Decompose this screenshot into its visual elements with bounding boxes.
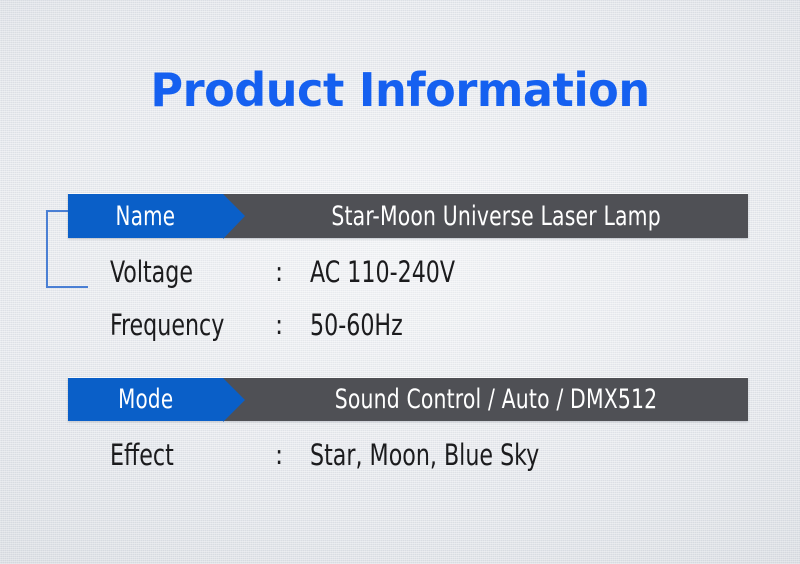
detail-separator-effect: : [275,440,310,471]
spec-bar-name: Name Star-Moon Universe Laser Lamp [68,193,748,238]
spec-value-panel-mode: Sound Control / Auto / DMX512 [223,378,748,421]
detail-value-frequency: 50-60Hz [310,308,667,342]
spec-value-label-name: Star-Moon Universe Laser Lamp [332,201,661,232]
detail-value-voltage: AC 110-240V [310,255,667,289]
spec-key-label-name: Name [116,201,176,232]
detail-row-effect: Effect : Star, Moon, Blue Sky [110,435,730,475]
bracket-left-segment [46,210,48,288]
spec-key-chevron-name: Name [68,194,223,238]
detail-label-voltage: Voltage [110,255,250,289]
spec-value-panel-name: Star-Moon Universe Laser Lamp [223,194,748,238]
spec-bar-mode: Mode Sound Control / Auto / DMX512 [68,377,748,421]
product-information-infographic: Product Information Name Star-Moon Unive… [0,0,800,564]
detail-value-effect: Star, Moon, Blue Sky [310,438,667,472]
detail-row-voltage: Voltage : AC 110-240V [110,252,730,292]
page-title: Product Information [12,63,788,117]
detail-separator-frequency: : [275,310,310,341]
spec-key-chevron-mode: Mode [68,378,223,421]
spec-value-label-mode: Sound Control / Auto / DMX512 [335,384,658,415]
bracket-bottom-segment [46,286,88,288]
detail-label-effect: Effect [110,438,250,472]
detail-label-frequency: Frequency [110,308,250,342]
spec-key-label-mode: Mode [118,384,173,415]
detail-separator-voltage: : [275,257,310,288]
detail-row-frequency: Frequency : 50-60Hz [110,305,730,345]
